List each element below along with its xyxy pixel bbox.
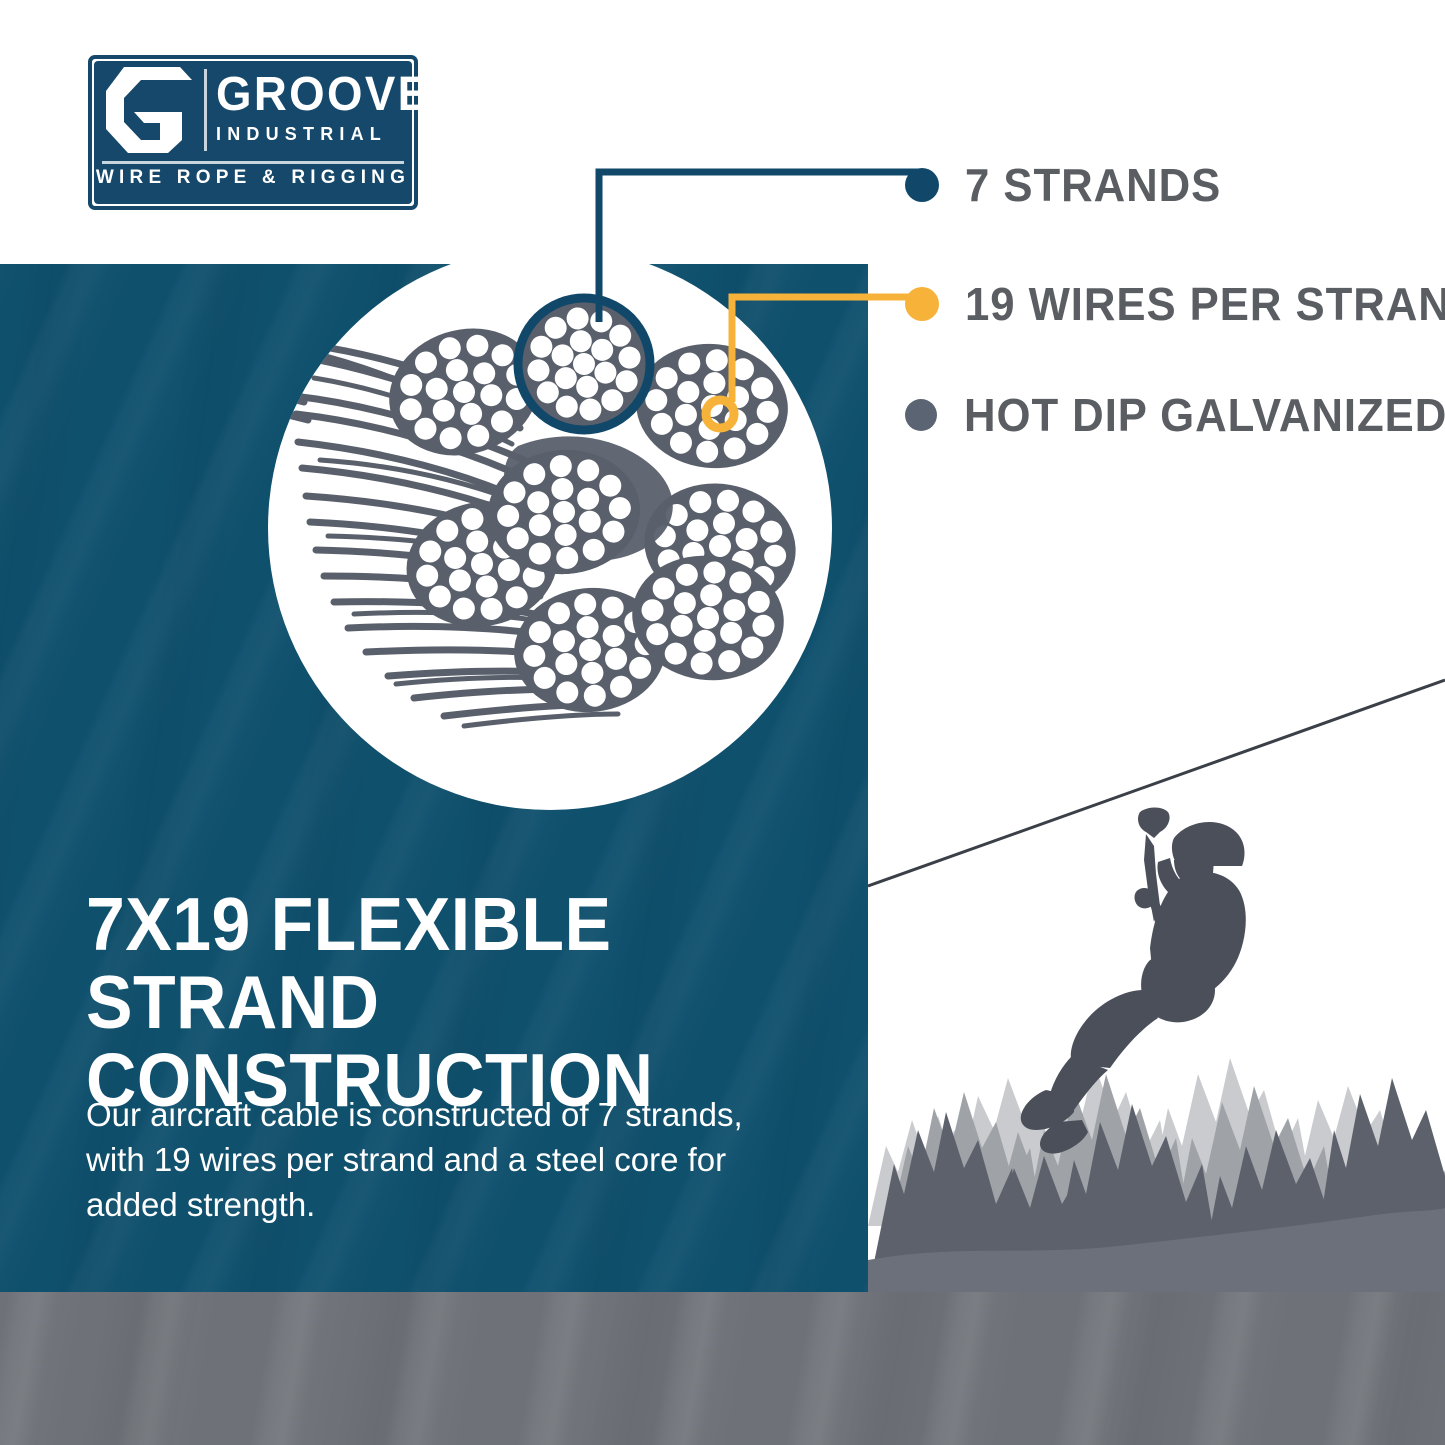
callout-label-wires: 19 WIRES PER STRAND [965, 277, 1445, 331]
infographic-canvas: GROOVE INDUSTRIAL WIRE ROPE & RIGGING [0, 0, 1445, 1445]
bottom-bar-streaks-secondary [0, 1292, 1445, 1445]
callout-galvanized[interactable]: HOT DIP GALVANIZED [905, 388, 1445, 442]
wire-tail-ends [280, 342, 310, 420]
wire-rope-cross-section-diagram [268, 246, 832, 810]
zipline-photo [868, 660, 1445, 1292]
bottom-gray-bar [0, 1292, 1445, 1445]
callout-label-galvanized: HOT DIP GALVANIZED [964, 388, 1445, 442]
callout-dot-strands [905, 168, 939, 202]
callout-label-strands: 7 STRANDS [965, 158, 1221, 212]
logo-wordmark: GROOVE INDUSTRIAL [216, 70, 404, 145]
logo-subname: INDUSTRIAL [216, 123, 404, 145]
callout-dot-wires [905, 287, 939, 321]
groove-g-monogram-icon [94, 61, 204, 159]
logo-name: GROOVE [216, 70, 395, 120]
callout-wires[interactable]: 19 WIRES PER STRAND [905, 277, 1445, 331]
logo-horizontal-rule [102, 161, 404, 164]
brand-logo[interactable]: GROOVE INDUSTRIAL WIRE ROPE & RIGGING [88, 55, 418, 210]
logo-tagline: WIRE ROPE & RIGGING [94, 167, 412, 189]
headline-line-1: 7X19 FLEXIBLE [86, 882, 611, 966]
logo-top-row: GROOVE INDUSTRIAL [94, 61, 412, 159]
logo-inner-plate: GROOVE INDUSTRIAL WIRE ROPE & RIGGING [94, 61, 412, 204]
callout-dot-galvanized [905, 399, 937, 431]
callout-strands[interactable]: 7 STRANDS [905, 158, 1235, 212]
page-title: 7X19 FLEXIBLE STRAND CONSTRUCTION [86, 885, 793, 1119]
body-copy: Our aircraft cable is constructed of 7 s… [86, 1092, 746, 1227]
logo-divider [204, 69, 207, 151]
